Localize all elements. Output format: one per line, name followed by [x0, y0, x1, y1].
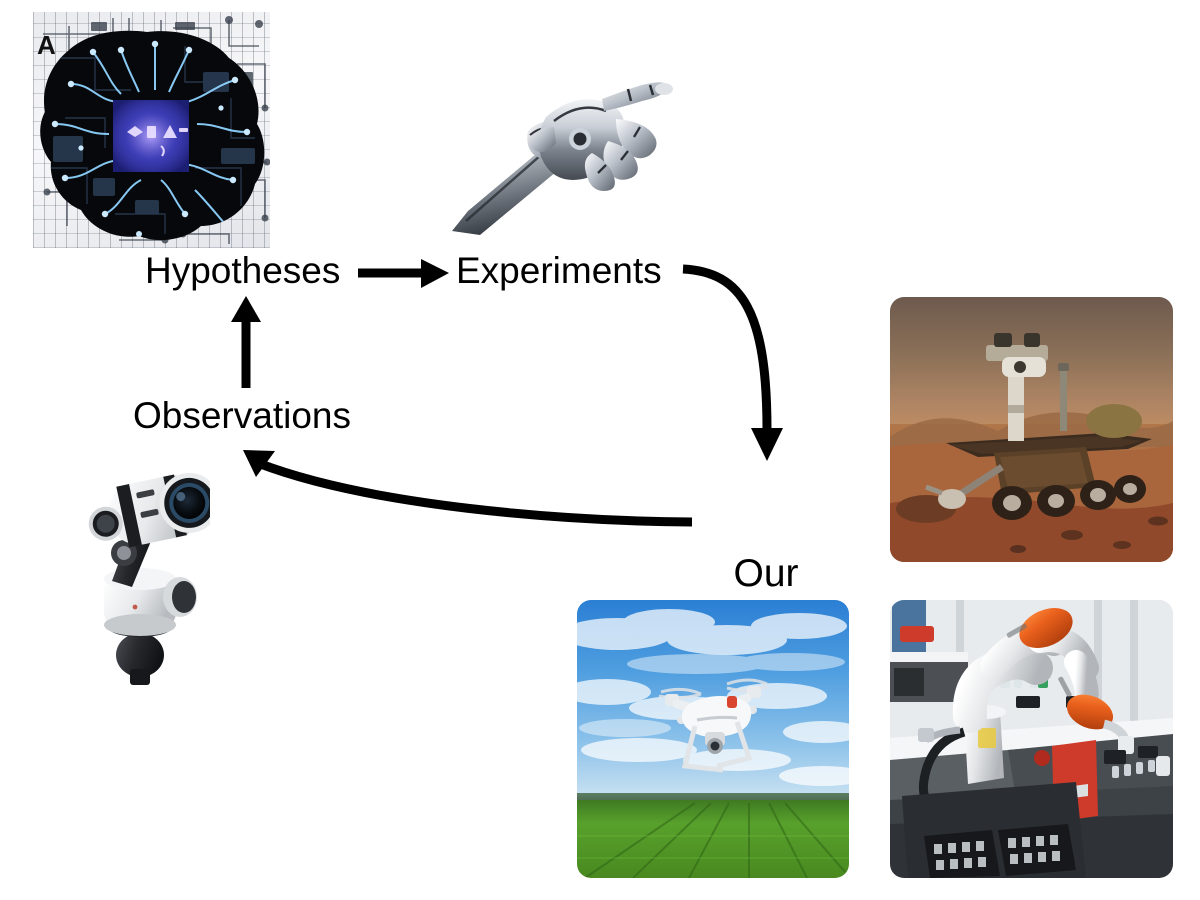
- node-label-observations: Observations: [133, 396, 351, 435]
- ai-circuit-brain-image: A: [33, 12, 270, 248]
- gimbal-camera-art: [78, 455, 210, 685]
- robotic-hand-art: [450, 35, 690, 235]
- arrow-our-world-to-observations: [243, 450, 692, 522]
- node-label-our-world-line1: Our: [700, 553, 832, 594]
- lab-robot-arm-image: [890, 600, 1173, 878]
- brain-silhouette: [35, 28, 268, 244]
- node-label-hypotheses: Hypotheses: [145, 251, 340, 290]
- gimbal-camera-image: [78, 455, 210, 685]
- drone-art: [577, 600, 849, 878]
- robotic-hand-image: [450, 35, 690, 235]
- arrow-experiments-to-our-world: [683, 269, 783, 461]
- figure-canvas: Hypotheses Experiments Observations Our …: [0, 0, 1200, 900]
- node-label-experiments: Experiments: [456, 251, 662, 290]
- mars-rover-image: [890, 297, 1173, 562]
- mars-rover-art: [890, 297, 1173, 562]
- lab-robot-art: [890, 600, 1173, 878]
- panel-letter-a: A: [37, 30, 56, 61]
- arrow-hypotheses-to-experiments: [358, 259, 449, 288]
- survey-drone-image: [577, 600, 849, 878]
- arrow-observations-to-hypotheses: [231, 296, 261, 388]
